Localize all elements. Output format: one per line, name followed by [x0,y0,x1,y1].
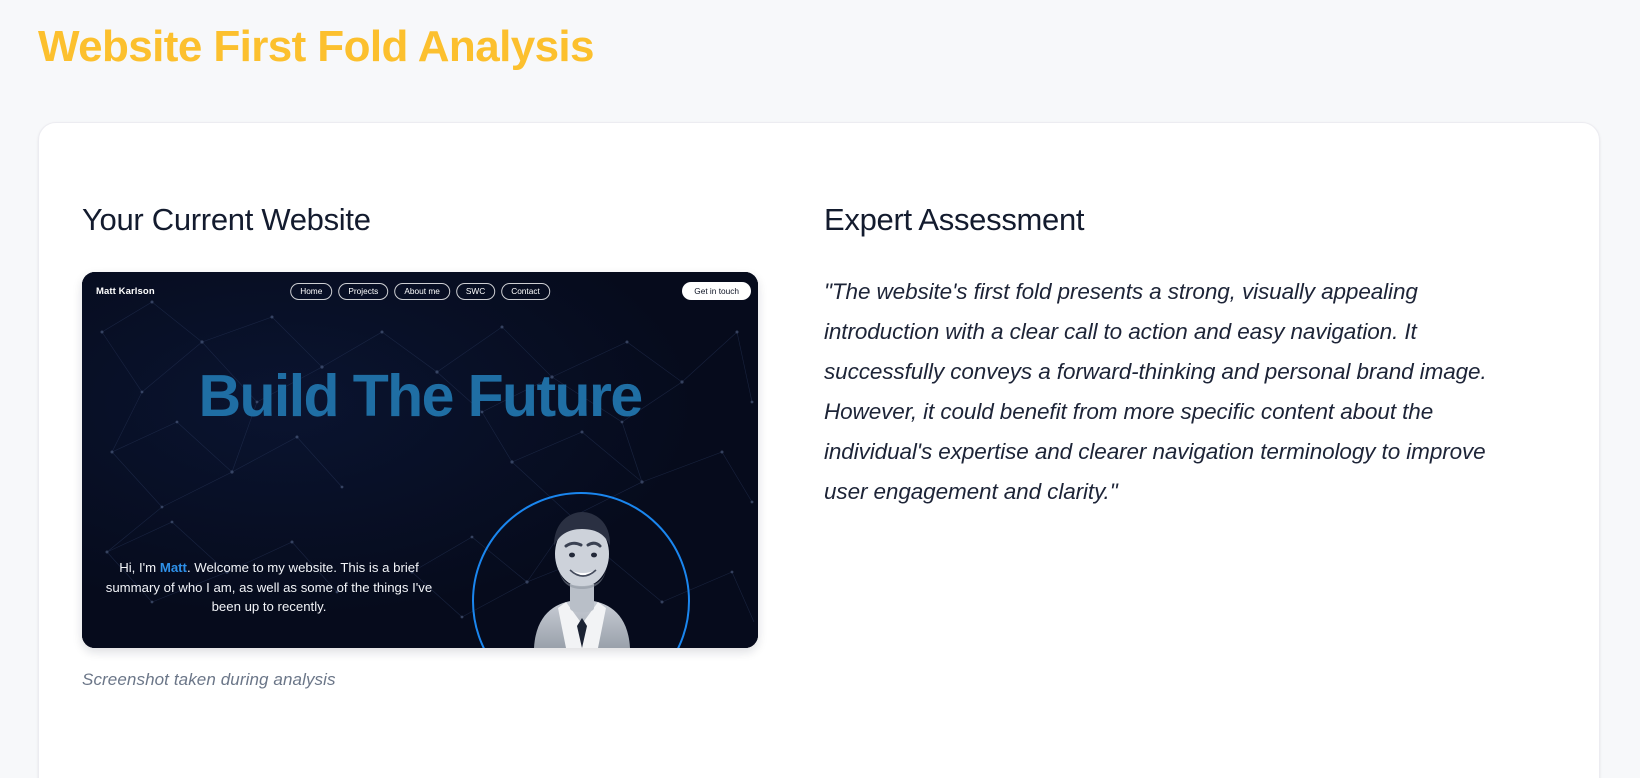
intro-before: Hi, I'm [119,560,160,575]
analysis-card: Your Current Website [38,122,1600,778]
site-nav-links: Home Projects About me SWC Contact [290,283,550,300]
card-columns: Your Current Website [39,123,1599,690]
expert-assessment-column: Expert Assessment "The website's first f… [812,201,1572,690]
website-screenshot-wrapper: Matt Karlson Home Projects About me SWC … [82,272,758,690]
page-title: Website First Fold Analysis [38,22,594,73]
nav-item-home[interactable]: Home [290,283,332,300]
screenshot-caption: Screenshot taken during analysis [82,670,758,690]
portrait-zone [466,458,698,648]
expert-assessment-heading: Expert Assessment [824,201,1522,238]
intro-accent-name: Matt [160,560,187,575]
current-website-column: Your Current Website [39,201,812,690]
get-in-touch-button[interactable]: Get in touch [682,282,751,300]
current-website-heading: Your Current Website [82,201,792,238]
site-brand[interactable]: Matt Karlson [96,286,155,297]
hero-headline: Build The Future [82,367,758,426]
nav-item-projects[interactable]: Projects [338,283,388,300]
nav-item-about-me[interactable]: About me [394,283,450,300]
nav-item-swc[interactable]: SWC [456,283,495,300]
hero-intro-copy: Hi, I'm Matt. Welcome to my website. Thi… [104,558,434,617]
portrait-photo [520,488,644,648]
person-illustration [520,488,644,648]
website-screenshot: Matt Karlson Home Projects About me SWC … [82,272,758,648]
nav-item-contact[interactable]: Contact [501,283,550,300]
analysis-page: Website First Fold Analysis Your Current… [0,0,1640,778]
site-navbar: Matt Karlson Home Projects About me SWC … [82,272,758,310]
expert-assessment-quote: "The website's first fold presents a str… [824,272,1496,512]
